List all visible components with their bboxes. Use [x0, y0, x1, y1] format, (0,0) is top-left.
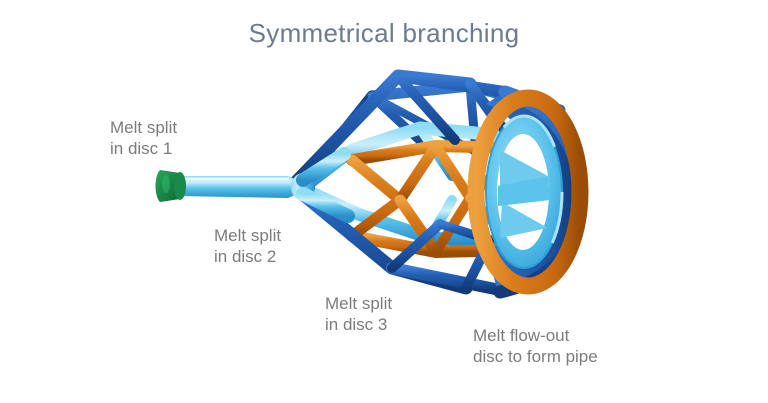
figure-canvas: Symmetrical branching — [0, 0, 768, 403]
label-melt-flow-out: Melt flow-out disc to form pipe — [473, 325, 598, 367]
inlet-assembly — [156, 154, 349, 216]
label-melt-split-disc-2: Melt split in disc 2 — [214, 225, 281, 267]
melt-distributor-3d-model — [0, 0, 768, 403]
label-melt-split-disc-3: Melt split in disc 3 — [325, 293, 392, 335]
label-melt-split-disc-1: Melt split in disc 1 — [110, 117, 177, 159]
